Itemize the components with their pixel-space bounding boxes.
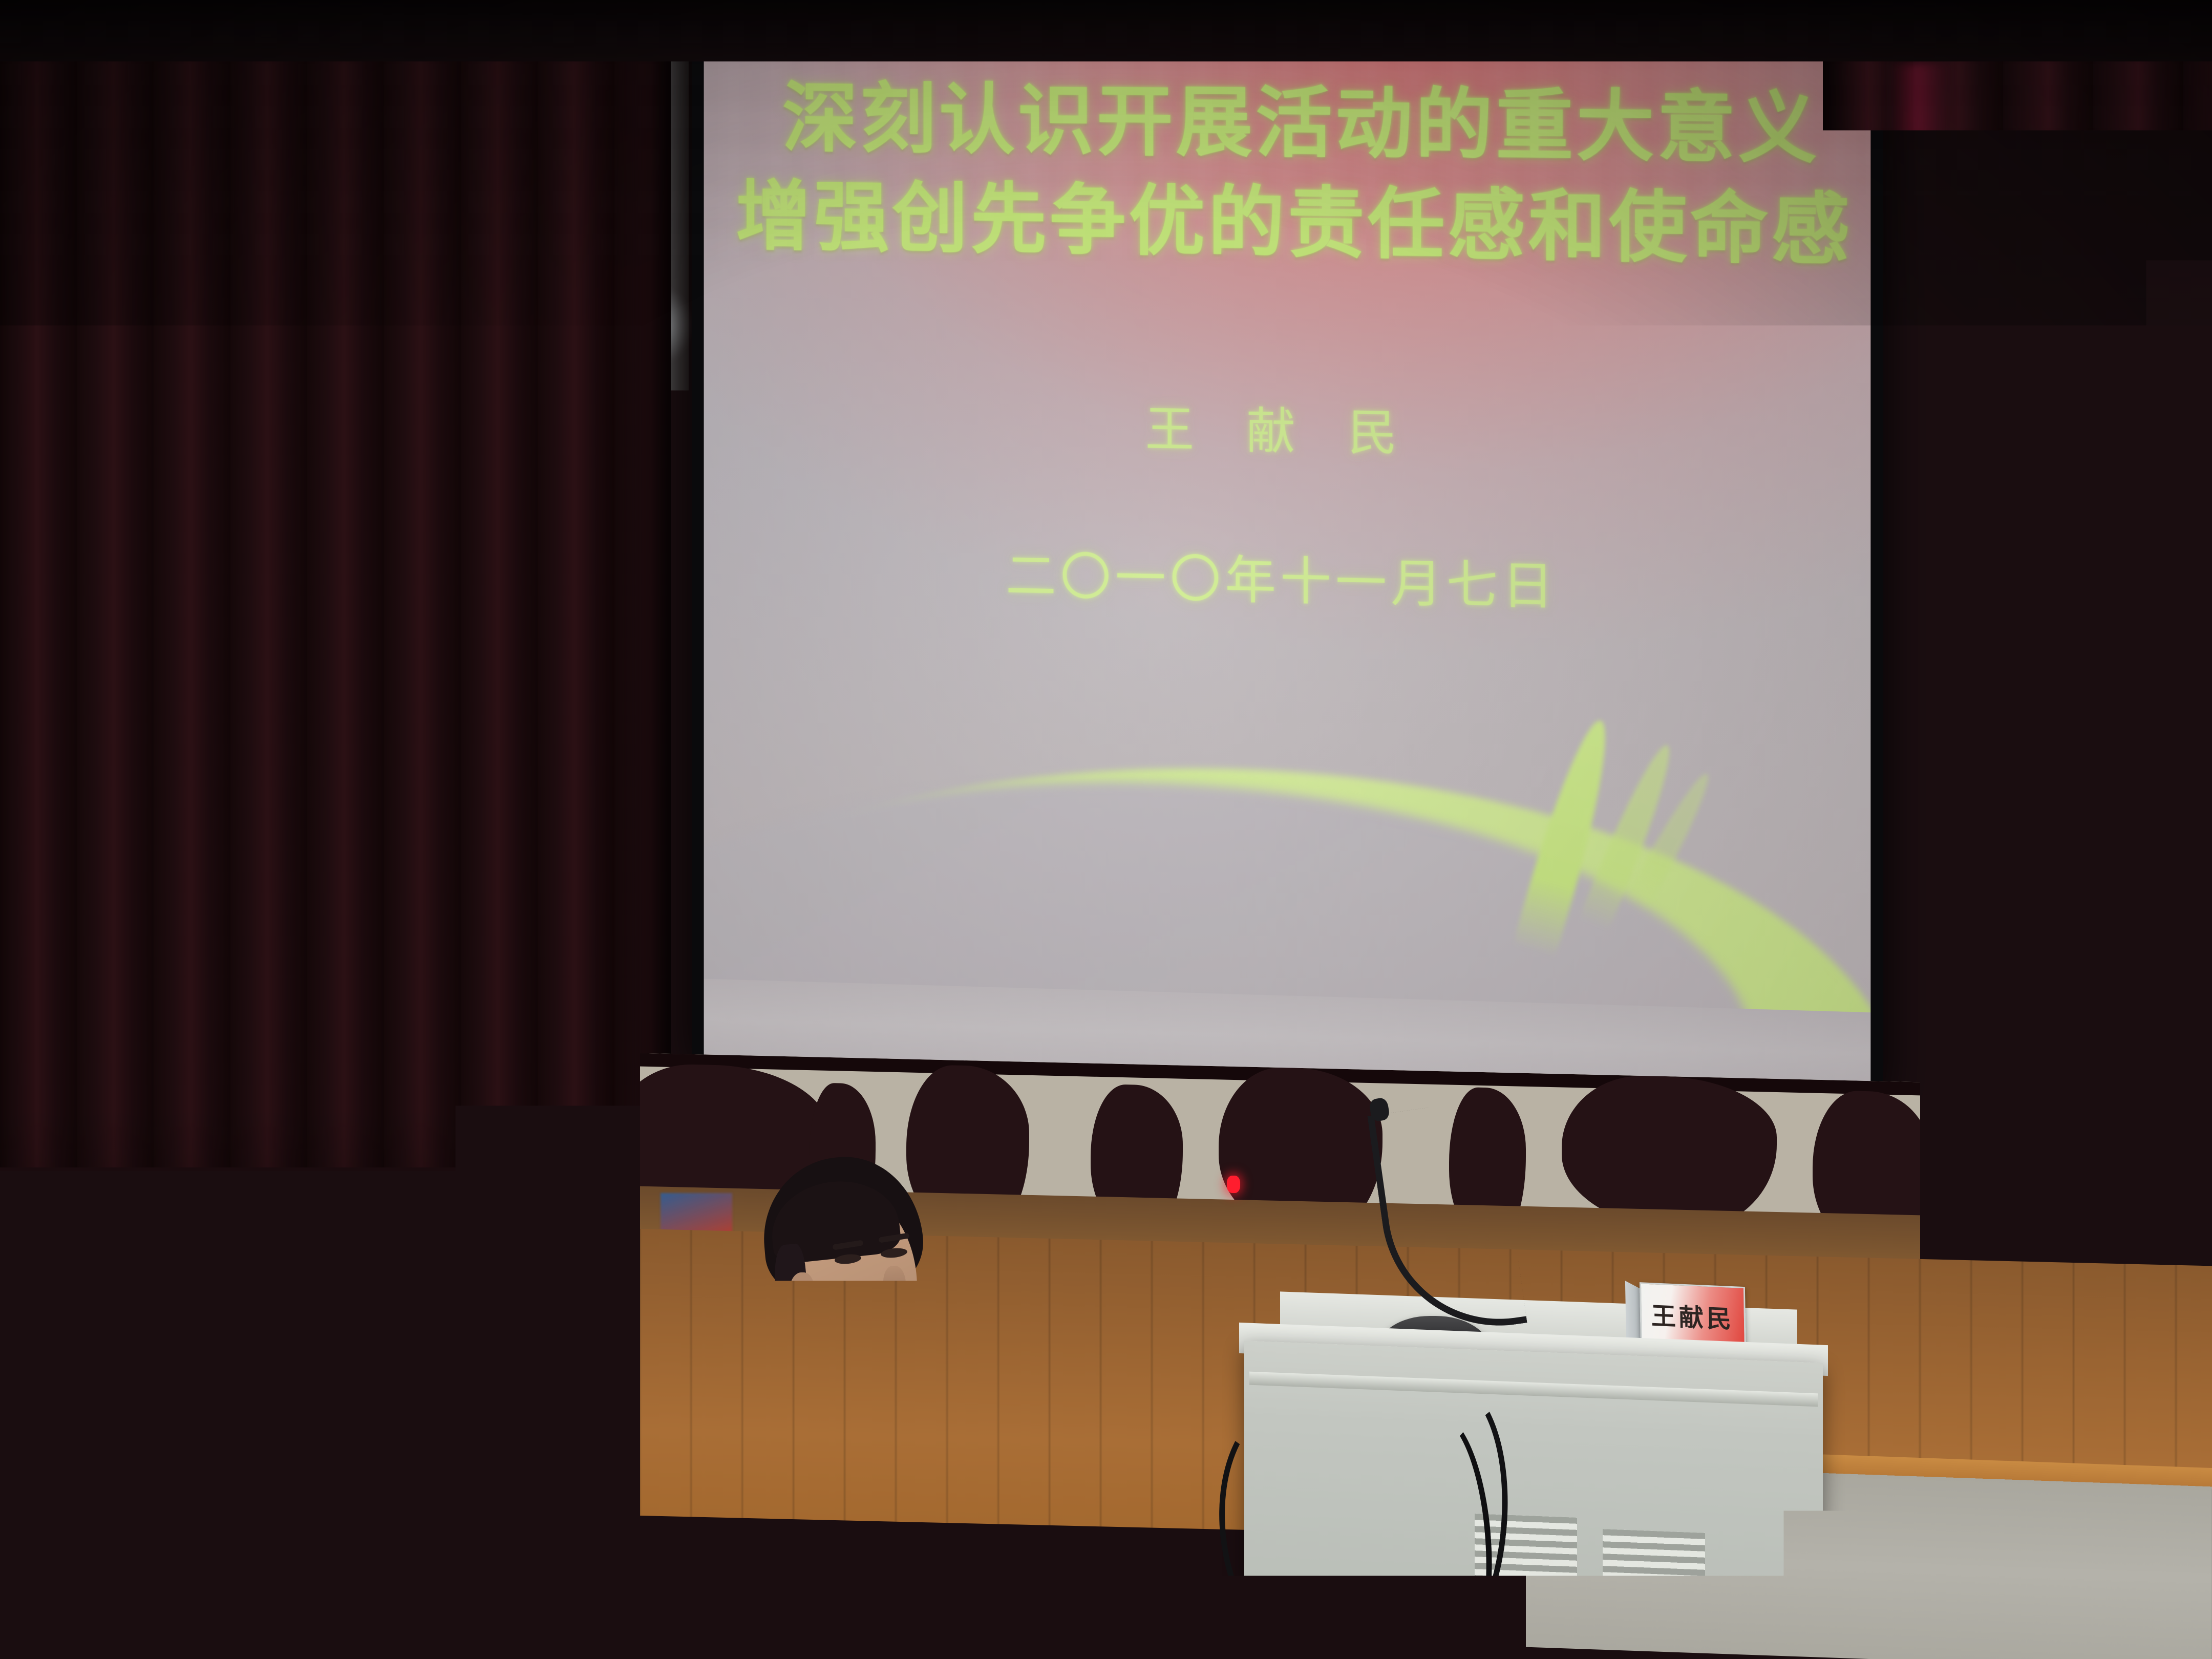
slide-author-name: 王 献 民 <box>1145 389 1416 465</box>
slide-title-line-1: 深刻认识开展活动的重大意义 <box>782 69 1820 180</box>
ceiling-shadow-band <box>0 0 2212 61</box>
stage-curtain-valance <box>0 1167 655 1382</box>
desk-plate-text-line-1 <box>843 1549 904 1560</box>
stage-curtain-right-highlight <box>1889 61 1951 1249</box>
equipment-led-indicator <box>1227 1176 1240 1193</box>
slide-title-line-2: 增强创先争优的责任感和使命感 <box>736 167 1853 282</box>
presentation-slide: 深刻认识开展活动的重大意义 增强创先争优的责任感和使命感 王 献 民 二〇一〇年… <box>704 0 1871 1095</box>
screen-surface: 深刻认识开展活动的重大意义 增强创先争优的责任感和使命感 王 献 民 二〇一〇年… <box>704 0 1871 1095</box>
presenter-nose <box>883 1266 906 1304</box>
desk-plate-logo <box>823 1546 839 1558</box>
front-desk-side <box>169 1461 251 1659</box>
slide-text-block: 深刻认识开展活动的重大意义 增强创先争优的责任感和使命感 王 献 民 二〇一〇年… <box>704 0 1871 1095</box>
photo-scene: 深刻认识开展活动的重大意义 增强创先争优的责任感和使命感 王 献 民 二〇一〇年… <box>0 0 2212 1659</box>
projection-screen: 深刻认识开展活动的重大意义 增强创先争优的责任感和使命感 王 献 民 二〇一〇年… <box>692 0 1883 1109</box>
desk-manufacturer-plate <box>818 1538 913 1580</box>
console-vent-right <box>1603 1529 1705 1646</box>
presenter-ear <box>790 1272 814 1310</box>
desk-plate-text-line-2 <box>824 1561 901 1572</box>
name-placard-text: 王献民 <box>1651 1295 1734 1335</box>
front-desk-body <box>169 1434 896 1659</box>
slide-date: 二〇一〇年十一月七日 <box>1006 534 1558 620</box>
